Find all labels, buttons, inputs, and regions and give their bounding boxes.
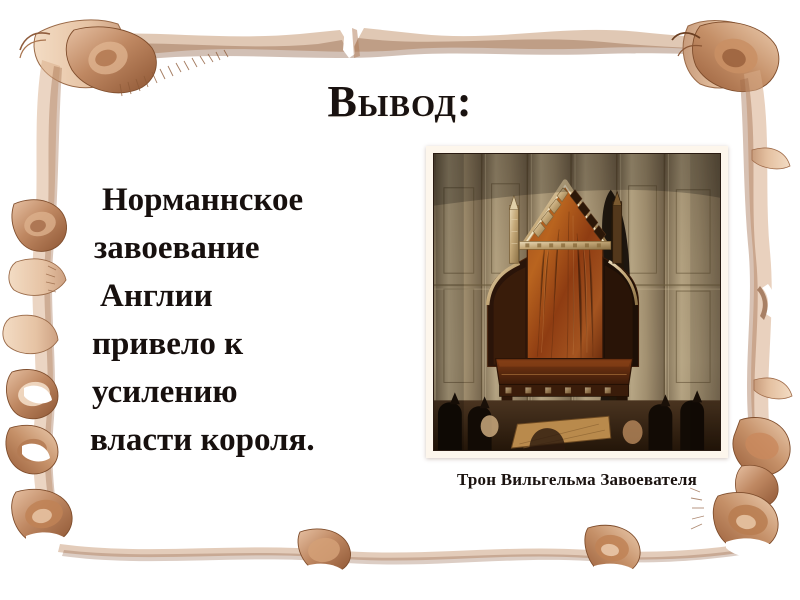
body-line-3: Англии	[80, 272, 380, 320]
slide-title: Вывод:	[170, 76, 630, 127]
body-line-4: привело к	[80, 320, 380, 368]
throne-photo	[433, 153, 721, 451]
slide-body-text: Норманнское завоевание Англии привело к …	[80, 176, 380, 464]
throne-photo-frame	[426, 146, 728, 458]
slide: Вывод: Норманнское завоевание Англии при…	[0, 0, 800, 600]
body-line-6: власти короля.	[80, 416, 380, 464]
body-line-1: Норманнское	[80, 176, 380, 224]
photo-caption: Трон Вильгельма Завоевателя	[418, 470, 736, 490]
body-line-5: усилению	[80, 368, 380, 416]
body-line-2: завоевание	[80, 224, 380, 272]
